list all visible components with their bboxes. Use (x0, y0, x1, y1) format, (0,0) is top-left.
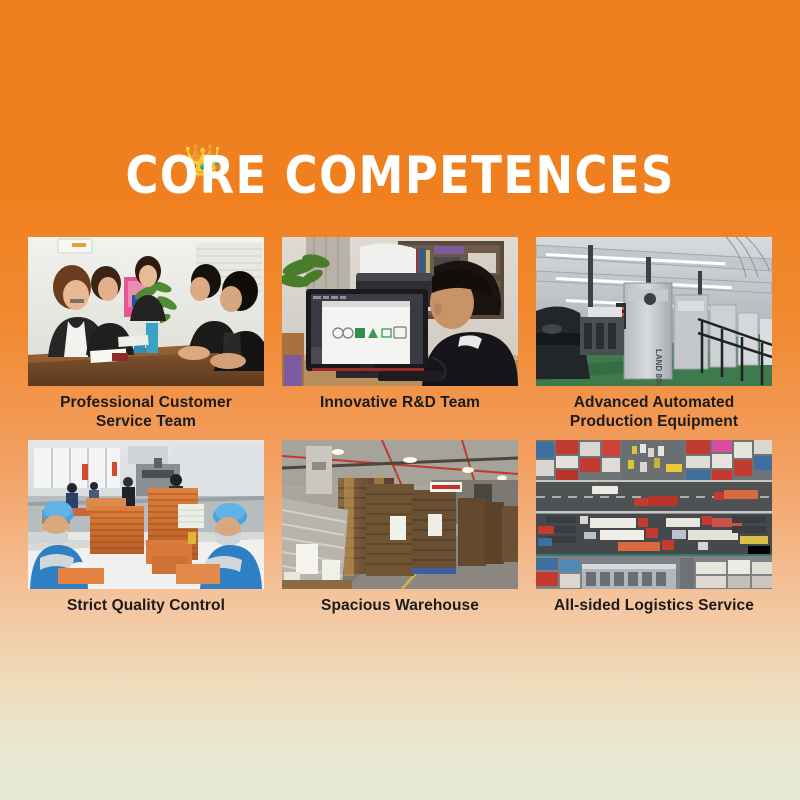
caption-line: Production Equipment (536, 413, 772, 432)
caption-spacious-warehouse: Spacious Warehouse (282, 597, 518, 616)
competence-card-advanced-automated-production-equipment[interactable]: LAND 800 (536, 237, 772, 432)
photo-printing-press: LAND 800 (536, 237, 772, 386)
caption-line: All-sided Logistics Service (536, 597, 772, 616)
quality-control-illustration (28, 440, 264, 589)
competence-grid: Professional Customer Service Team (28, 237, 772, 616)
meeting-room-illustration (28, 237, 264, 386)
photo-warehouse (282, 440, 518, 589)
caption-advanced-automated-production-equipment: Advanced Automated Production Equipment (536, 394, 772, 432)
competence-card-spacious-warehouse[interactable]: Spacious Warehouse (282, 440, 518, 616)
caption-professional-customer-service-team: Professional Customer Service Team (28, 394, 264, 432)
caption-strict-quality-control: Strict Quality Control (28, 597, 264, 616)
competence-card-strict-quality-control[interactable]: Strict Quality Control (28, 440, 264, 616)
competence-card-innovative-rd-team[interactable]: Innovative R&D Team (282, 237, 518, 432)
competence-card-professional-customer-service-team[interactable]: Professional Customer Service Team (28, 237, 264, 432)
warehouse-illustration (282, 440, 518, 589)
designer-desk-illustration (282, 237, 518, 386)
photo-meeting-room (28, 237, 264, 386)
photo-designer-desk (282, 237, 518, 386)
svg-text:LAND 800: LAND 800 (654, 349, 663, 386)
caption-line: Professional Customer (28, 394, 264, 413)
caption-line: Innovative R&D Team (282, 394, 518, 413)
caption-all-sided-logistics-service: All-sided Logistics Service (536, 597, 772, 616)
logistics-yard-illustration (536, 440, 772, 589)
competence-card-all-sided-logistics-service[interactable]: All-sided Logistics Service (536, 440, 772, 616)
photo-quality-control (28, 440, 264, 589)
caption-innovative-rd-team: Innovative R&D Team (282, 394, 518, 413)
caption-line: Strict Quality Control (28, 597, 264, 616)
photo-logistics-yard (536, 440, 772, 589)
printing-press-illustration: LAND 800 (536, 237, 772, 386)
page-title: CORE COMPETENCES (125, 150, 674, 202)
caption-line: Advanced Automated (536, 394, 772, 413)
page-title-block: 👑 CORE COMPETENCES (0, 150, 800, 202)
core-competences-banner: 👑 CORE COMPETENCES (0, 0, 800, 800)
caption-line: Service Team (28, 413, 264, 432)
caption-line: Spacious Warehouse (282, 597, 518, 616)
